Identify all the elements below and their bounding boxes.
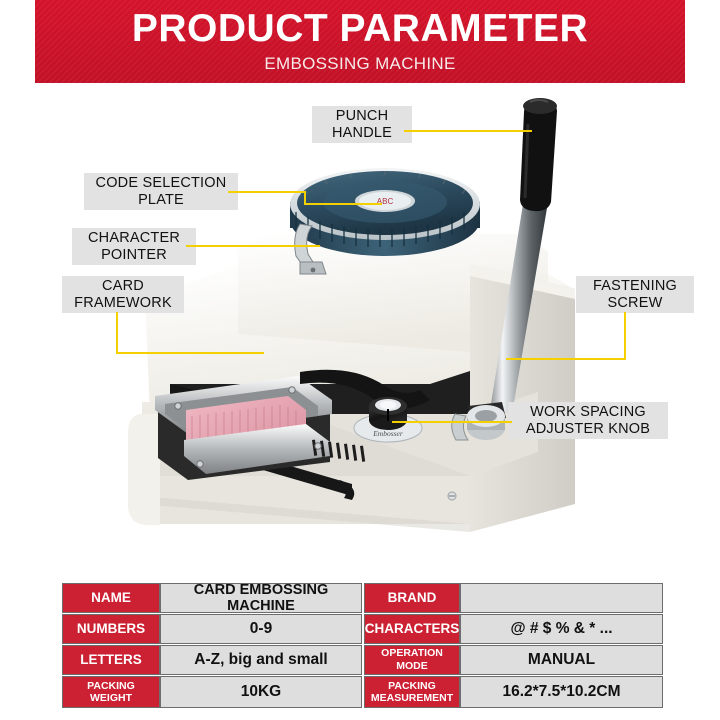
- spec-table-right: BRAND CHARACTERS @ # $ % & * ... OPERATI…: [364, 583, 663, 708]
- leader-line-character-pointer: [186, 245, 320, 247]
- leader-line-fastening-screw-a: [624, 312, 626, 360]
- table-row: OPERATION MODE MANUAL: [364, 645, 663, 675]
- leader-line-card-framework-a: [116, 312, 118, 354]
- callout-label-character-pointer: CHARACTER POINTER: [72, 228, 196, 265]
- callout-label-card-framework: CARD FRAMEWORK: [62, 276, 184, 313]
- leader-line-fastening-screw-b: [506, 358, 626, 360]
- specification-table: NAME CARD EMBOSSING MACHINE NUMBERS 0-9 …: [62, 583, 663, 708]
- machine-illustration: ABC: [0, 84, 720, 554]
- page-subtitle: EMBOSSING MACHINE: [35, 54, 685, 74]
- spec-label: CHARACTERS: [364, 614, 460, 644]
- table-row: NUMBERS 0-9: [62, 614, 362, 644]
- spec-table-left: NAME CARD EMBOSSING MACHINE NUMBERS 0-9 …: [62, 583, 362, 708]
- table-row: NAME CARD EMBOSSING MACHINE: [62, 583, 362, 613]
- page-header-banner: PRODUCT PARAMETER EMBOSSING MACHINE: [35, 0, 685, 83]
- spec-value: A-Z, big and small: [160, 645, 362, 675]
- callout-label-code-selection-plate: CODE SELECTION PLATE: [84, 173, 238, 210]
- code-selection-dial: ABC: [290, 168, 480, 256]
- spec-label: LETTERS: [62, 645, 160, 675]
- callout-label-punch-handle: PUNCH HANDLE: [312, 106, 412, 143]
- spec-value: 16.2*7.5*10.2CM: [460, 676, 663, 708]
- table-row: CHARACTERS @ # $ % & * ...: [364, 614, 663, 644]
- page-title: PRODUCT PARAMETER: [35, 6, 685, 52]
- spec-label: PACKING WEIGHT: [62, 676, 160, 708]
- spec-value: MANUAL: [460, 645, 663, 675]
- table-row: BRAND: [364, 583, 663, 613]
- leader-line-code-selection-plate-a: [228, 191, 306, 193]
- table-row: PACKING MEASUREMENT 16.2*7.5*10.2CM: [364, 676, 663, 708]
- spec-value: @ # $ % & * ...: [460, 614, 663, 644]
- product-diagram: ABC: [0, 84, 720, 554]
- spec-label: NUMBERS: [62, 614, 160, 644]
- leader-line-card-framework-b: [116, 352, 264, 354]
- leader-line-work-spacing-knob: [392, 421, 512, 423]
- spec-value: 0-9: [160, 614, 362, 644]
- spec-label: OPERATION MODE: [364, 645, 460, 675]
- spec-value: 10KG: [160, 676, 362, 708]
- svg-text:Embosser: Embosser: [372, 429, 403, 438]
- spec-label: BRAND: [364, 583, 460, 613]
- leader-line-code-selection-plate-c: [304, 203, 382, 205]
- table-row: PACKING WEIGHT 10KG: [62, 676, 362, 708]
- table-row: LETTERS A-Z, big and small: [62, 645, 362, 675]
- spec-label: PACKING MEASUREMENT: [364, 676, 460, 708]
- spec-value: [460, 583, 663, 613]
- leader-line-punch-handle: [404, 130, 532, 132]
- spec-value: CARD EMBOSSING MACHINE: [160, 583, 362, 613]
- callout-label-work-spacing-knob: WORK SPACING ADJUSTER KNOB: [508, 402, 668, 439]
- callout-label-fastening-screw: FASTENING SCREW: [576, 276, 694, 313]
- spec-label: NAME: [62, 583, 160, 613]
